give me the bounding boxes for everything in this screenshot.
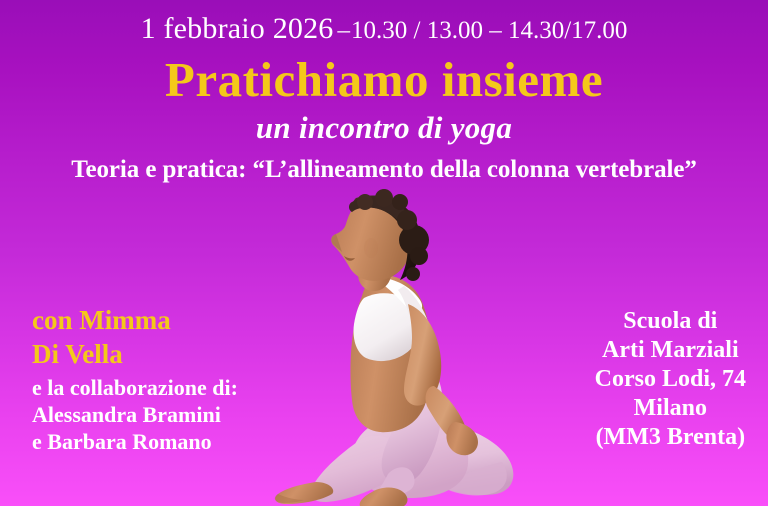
venue-line-2: Arti Marziali <box>595 337 746 364</box>
yoga-figure-image <box>264 186 534 506</box>
date-time-separator: – <box>334 17 352 44</box>
yoga-seated-pose-illustration <box>264 186 534 506</box>
page-subtitle: un incontro di yoga <box>0 112 768 143</box>
figure-hair-curl-2 <box>410 247 428 265</box>
figure-hair-curl-5 <box>392 194 408 210</box>
event-date: 1 febbraio 2026 <box>141 12 334 45</box>
page-title: Pratichiamo insieme <box>0 55 768 104</box>
venue-block: Scuola di Arti Marziali Corso Lodi, 74 M… <box>595 306 746 450</box>
presenter-block: con Mimma Di Vella e la collaborazione d… <box>32 305 238 454</box>
presenter-name-line1: con Mimma <box>32 305 238 335</box>
page-tagline: Teoria e pratica: “L’allineamento della … <box>0 157 768 182</box>
figure-hair-curl-1 <box>397 210 417 230</box>
figure-hair-curl-6 <box>406 267 420 281</box>
venue-line-4: Milano <box>595 395 746 422</box>
poster-header: 1 febbraio 2026–10.30 / 13.00 – 14.30/17… <box>0 0 768 182</box>
presenter-name-line2: Di Vella <box>32 339 238 369</box>
venue-line-3: Corso Lodi, 74 <box>595 366 746 393</box>
date-and-time-line: 1 febbraio 2026–10.30 / 13.00 – 14.30/17… <box>0 14 768 44</box>
figure-ear <box>364 238 378 258</box>
collaborator-2: e Barbara Romano <box>32 430 238 455</box>
collaborator-1: Alessandra Bramini <box>32 403 238 428</box>
venue-line-5: (MM3 Brenta) <box>595 424 746 451</box>
poster-canvas: 1 febbraio 2026–10.30 / 13.00 – 14.30/17… <box>0 0 768 506</box>
venue-line-1: Scuola di <box>595 308 746 335</box>
figure-hair-curl-3 <box>375 189 393 207</box>
event-times: 10.30 / 13.00 – 14.30/17.00 <box>351 17 627 44</box>
figure-hair-curl-4 <box>357 194 373 210</box>
collaboration-label: e la collaborazione di: <box>32 376 238 401</box>
